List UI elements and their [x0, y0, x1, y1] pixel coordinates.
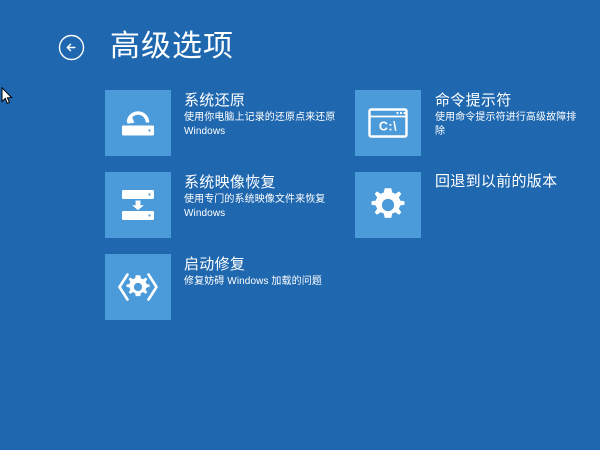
gear-icon: [367, 184, 409, 226]
advanced-options-screen: 高级选项 系统还原 使用你电脑上记录的还原点来还原 Windows: [0, 0, 600, 450]
back-arrow-circle-icon[interactable]: [58, 34, 85, 61]
go-back-to-previous-version-text: 回退到以前的版本: [421, 172, 557, 192]
startup-repair-tile[interactable]: [105, 254, 171, 320]
option-command-prompt[interactable]: C:\ 命令提示符 使用命令提示符进行高级故障排除: [355, 90, 585, 172]
option-description: 使用专门的系统映像文件来恢复 Windows: [184, 193, 355, 221]
system-image-recovery-icon: [117, 184, 159, 226]
option-title: 启动修复: [184, 255, 322, 275]
command-prompt-tile[interactable]: C:\: [355, 90, 421, 156]
system-restore-text: 系统还原 使用你电脑上记录的还原点来还原 Windows: [171, 90, 355, 139]
option-description: 修复妨碍 Windows 加载的问题: [184, 275, 322, 289]
system-image-recovery-text: 系统映像恢复 使用专门的系统映像文件来恢复 Windows: [171, 172, 355, 221]
startup-repair-text: 启动修复 修复妨碍 Windows 加载的问题: [171, 254, 322, 289]
option-description: 使用命令提示符进行高级故障排除: [435, 111, 585, 139]
mouse-pointer-icon: [1, 87, 13, 105]
go-back-to-previous-version-tile[interactable]: [355, 172, 421, 238]
option-title: 系统还原: [184, 91, 355, 111]
page-title: 高级选项: [110, 32, 234, 62]
option-title: 命令提示符: [435, 91, 585, 111]
option-description: 使用你电脑上记录的还原点来还原 Windows: [184, 111, 355, 139]
page-header: 高级选项: [58, 22, 234, 72]
option-go-back-to-previous-version[interactable]: 回退到以前的版本: [355, 172, 585, 254]
option-startup-repair[interactable]: 启动修复 修复妨碍 Windows 加载的问题: [105, 254, 355, 336]
command-prompt-text: 命令提示符 使用命令提示符进行高级故障排除: [421, 90, 585, 139]
command-prompt-icon: C:\: [366, 101, 410, 145]
startup-repair-icon: [116, 268, 160, 306]
system-restore-tile[interactable]: [105, 90, 171, 156]
option-system-restore[interactable]: 系统还原 使用你电脑上记录的还原点来还原 Windows: [105, 90, 355, 172]
option-system-image-recovery[interactable]: 系统映像恢复 使用专门的系统映像文件来恢复 Windows: [105, 172, 355, 254]
options-grid: 系统还原 使用你电脑上记录的还原点来还原 Windows C:\ 命令提示符 使…: [105, 90, 585, 336]
option-title: 回退到以前的版本: [435, 172, 557, 192]
svg-text:C:\: C:\: [379, 120, 397, 134]
system-image-recovery-tile[interactable]: [105, 172, 171, 238]
system-restore-icon: [117, 102, 159, 144]
option-title: 系统映像恢复: [184, 173, 355, 193]
